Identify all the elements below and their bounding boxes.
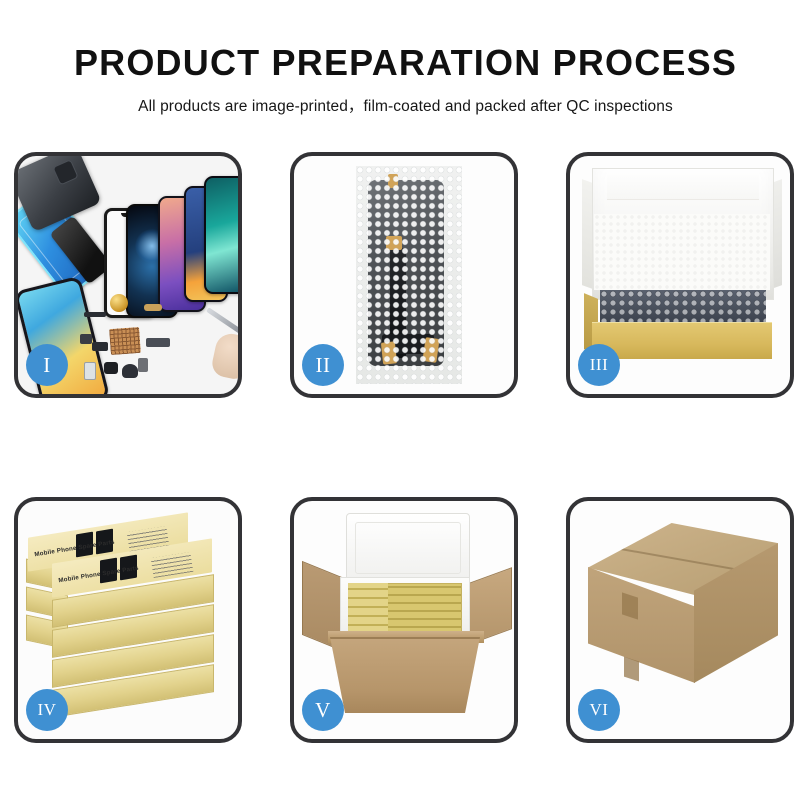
step-numeral: IV: [38, 700, 57, 720]
process-step-5[interactable]: V: [290, 497, 518, 743]
spare-part-camera: [104, 362, 118, 374]
page-subtitle: All products are image-printed，film-coat…: [0, 94, 811, 116]
copper-mesh-component: [109, 327, 141, 355]
tweezers-icon: [206, 307, 238, 334]
spare-part-sim-tray: [84, 362, 96, 380]
process-step-1[interactable]: I: [14, 152, 242, 398]
foam-box-lid: [346, 513, 470, 583]
phone-teal-gradient: [204, 176, 238, 294]
step-numeral: VI: [590, 700, 609, 720]
carton-tape-patch: [624, 657, 639, 682]
step-badge-4: IV: [26, 689, 68, 731]
process-step-2[interactable]: II: [290, 152, 518, 398]
bubble-texture: [356, 166, 462, 384]
spare-part-chip: [84, 312, 106, 317]
step-badge-1: I: [26, 344, 68, 386]
step-badge-6: VI: [578, 689, 620, 731]
spare-part-connector: [146, 338, 170, 347]
step-numeral: III: [590, 355, 608, 375]
technician-hand: [210, 331, 238, 381]
bubble-wrap-inside-box: [600, 290, 766, 324]
gold-round-component: [110, 294, 128, 312]
step-numeral: V: [315, 698, 331, 723]
step-badge-5: V: [302, 689, 344, 731]
spare-part-battery: [138, 358, 148, 372]
bubble-wrap-bag: [356, 166, 462, 384]
step-badge-2: II: [302, 344, 344, 386]
spare-part-speaker: [122, 364, 138, 378]
spare-part-flex-cable: [80, 334, 92, 344]
process-step-3[interactable]: III: [566, 152, 794, 398]
process-step-4[interactable]: Mobile Phone Spare Parts Mobile Phone Sp…: [14, 497, 242, 743]
page-title: PRODUCT PREPARATION PROCESS: [0, 44, 811, 82]
step-numeral: II: [316, 353, 331, 378]
phone-back-housing: [18, 156, 102, 232]
spare-part-gold-flex: [144, 304, 162, 311]
gold-box-front: [592, 322, 772, 359]
process-step-grid: I II: [14, 152, 797, 743]
gold-boxes-inside-left: [348, 583, 388, 633]
spare-part-chip: [92, 342, 108, 351]
foam-sheet: [594, 214, 770, 290]
page-header: PRODUCT PREPARATION PROCESS All products…: [0, 0, 811, 116]
step-badge-3: III: [578, 344, 620, 386]
process-step-6[interactable]: VI: [566, 497, 794, 743]
carton-body: [330, 637, 480, 713]
step-numeral: I: [43, 353, 51, 378]
